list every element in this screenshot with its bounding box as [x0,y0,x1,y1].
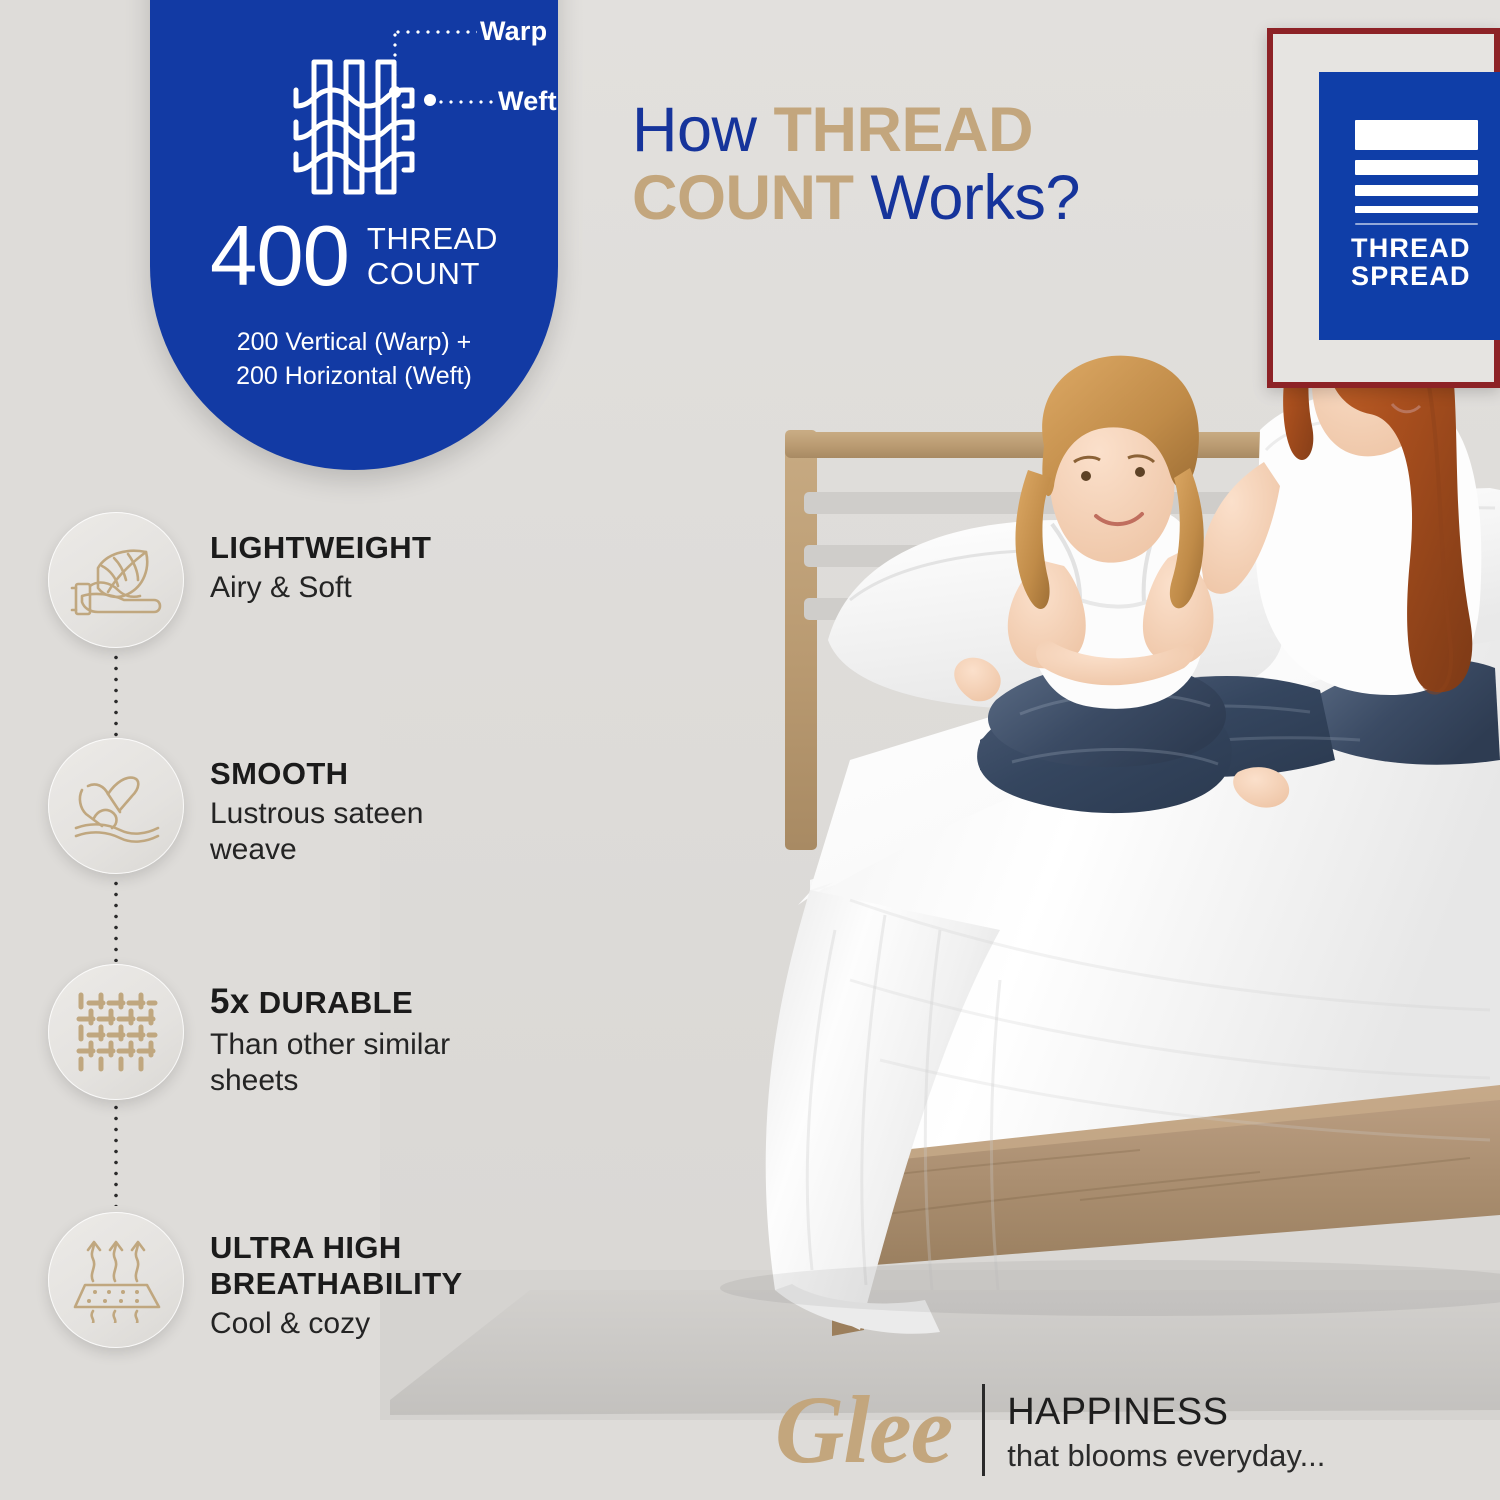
tagline-line-1: HAPPINESS [1007,1391,1325,1434]
feature-title: SMOOTH [210,756,510,792]
wall-art-frame: THREAD SPREAD [1267,28,1500,388]
feature-list: LIGHTWEIGHT Airy & Soft SMOOTH Lustrous … [48,512,518,1412]
feature-text: 5x DURABLE Than other similar sheets [210,964,500,1099]
thread-count-badge: Warp Weft 400 THREAD COUNT 200 Vertical [150,0,558,470]
feature-description: Than other similar sheets [210,1027,500,1099]
brand-name: Glee [775,1382,952,1478]
woven-threads-icon [290,56,418,203]
brand-lockup: Glee HAPPINESS that blooms everyday... [775,1382,1325,1478]
feature-description: Cool & cozy [210,1306,500,1342]
feature-title-prefix: 5x [210,982,250,1021]
thread-count-row: 400 THREAD COUNT [150,218,558,296]
logo-bars-icon [1355,120,1478,235]
warp-label: Warp [480,16,547,47]
brand-tagline: HAPPINESS that blooms everyday... [1007,1387,1325,1474]
logo-line-2: SPREAD [1351,262,1482,290]
thread-word: THREAD [367,222,498,257]
headline-word-how: How [632,95,757,165]
feature-title: ULTRA HIGH BREATHABILITY [210,1230,500,1302]
feature-text: ULTRA HIGH BREATHABILITY Cool & cozy [210,1212,500,1342]
weft-label: Weft [498,86,557,117]
list-item[interactable]: LIGHTWEIGHT Airy & Soft [48,512,518,738]
count-word: COUNT [367,257,498,292]
list-item[interactable]: ULTRA HIGH BREATHABILITY Cool & cozy [48,1212,518,1412]
headline-word-works: Works? [871,163,1080,233]
breakdown-line-2: 200 Horizontal (Weft) [150,359,558,393]
hand-touching-fabric-icon [48,738,184,874]
infographic-canvas: THREAD SPREAD Warp Weft [0,0,1500,1500]
feature-text: SMOOTH Lustrous sateen weave [210,738,510,868]
list-item[interactable]: 5x DURABLE Than other similar sheets [48,964,518,1212]
woven-grid-icon [48,964,184,1100]
thread-count-words: THREAD COUNT [367,222,498,291]
feature-title: LIGHTWEIGHT [210,530,431,566]
feature-description: Airy & Soft [210,570,431,606]
threadspread-logo-panel: THREAD SPREAD [1319,72,1500,340]
feature-description: Lustrous sateen weave [210,796,510,868]
thread-count-number: 400 [210,218,349,296]
headline-word-thread: THREAD [774,95,1034,165]
page-title: How THREAD COUNT Works? [632,96,1232,232]
brand-divider [982,1384,985,1476]
breakdown-line-1: 200 Vertical (Warp) + [150,325,558,359]
threadspread-logo-text: THREAD SPREAD [1351,234,1482,290]
thread-count-breakdown: 200 Vertical (Warp) + 200 Horizontal (We… [150,325,558,393]
headline-word-count: COUNT [632,163,853,233]
logo-line-1: THREAD [1351,234,1482,262]
tagline-line-2: that blooms everyday... [1007,1438,1325,1474]
feature-text: LIGHTWEIGHT Airy & Soft [210,512,431,606]
breathability-airflow-icon [48,1212,184,1348]
list-item[interactable]: SMOOTH Lustrous sateen weave [48,738,518,964]
feature-title-main: DURABLE [259,985,413,1020]
feature-title: 5x DURABLE [210,982,500,1023]
hand-feather-icon [48,512,184,648]
